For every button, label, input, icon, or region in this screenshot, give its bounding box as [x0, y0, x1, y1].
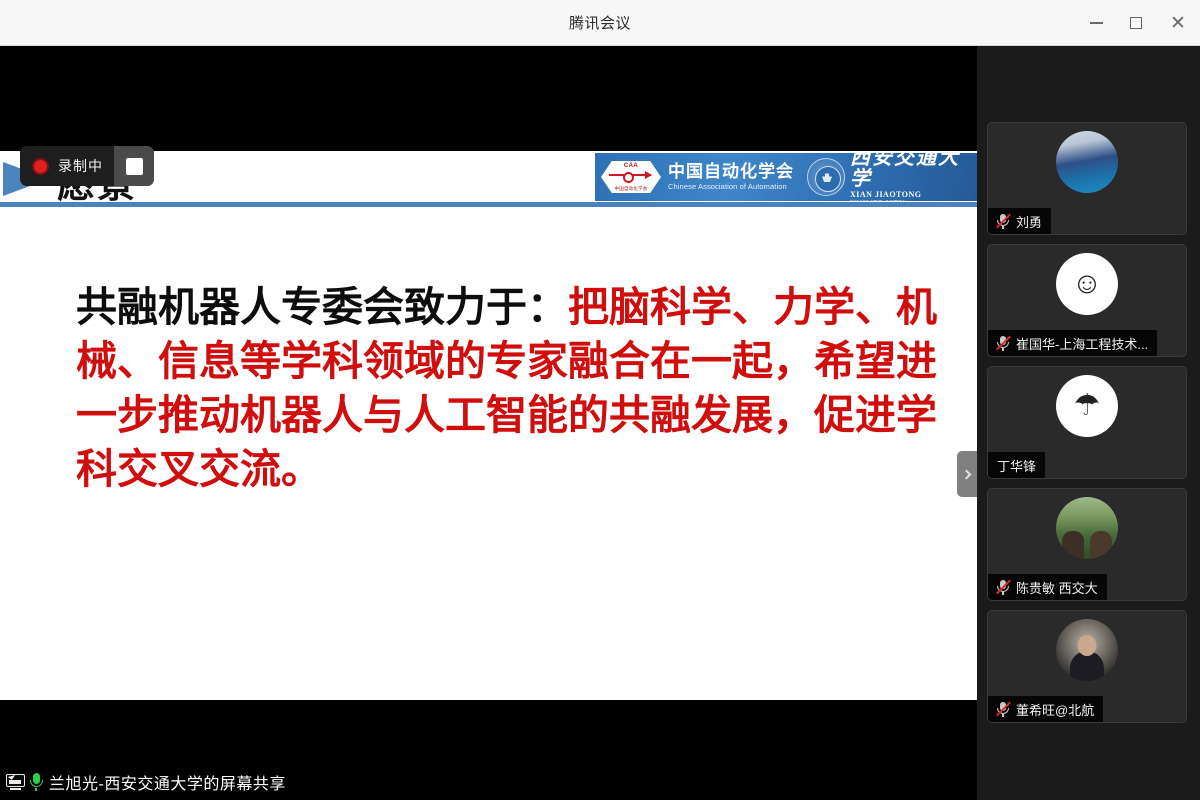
participant-name: 丁华锋 [997, 456, 1036, 475]
chevron-right-icon [961, 469, 971, 479]
caa-mark-bottom: 中国自动化学会 [601, 186, 661, 192]
mic-muted-icon [995, 579, 1011, 595]
participant-namebar: 董希旺@北航 [988, 696, 1103, 722]
mic-muted-icon [995, 335, 1011, 351]
recording-indicator: 录制中 [20, 146, 154, 186]
meeting-window: 腾讯会议 ✕ 愿景 CAA [0, 0, 1200, 800]
recording-label: 录制中 [58, 156, 103, 176]
xjtu-seal-icon [807, 158, 845, 196]
close-icon: ✕ [1170, 14, 1186, 33]
participant-name: 陈贵敏 西交大 [1016, 578, 1098, 597]
participant-tile[interactable]: ☂ 丁华锋 [987, 366, 1187, 479]
avatar [1056, 619, 1118, 681]
collapse-panel-button[interactable] [957, 451, 977, 497]
participant-tile[interactable]: 陈贵敏 西交大 [987, 488, 1187, 601]
presentation-slide: 愿景 CAA 中国自动化学会 中国自动化学会 Chinese Associati… [0, 151, 977, 700]
participant-namebar: 陈贵敏 西交大 [988, 574, 1107, 600]
caa-ring-icon [623, 172, 634, 183]
microphone-active-icon [29, 773, 43, 791]
xjtu-name-en: XIAN JIAOTONG UNIVERSITY [850, 190, 977, 202]
slide-header-rule [0, 202, 977, 207]
participant-tile[interactable]: ☺ 崔国华-上海工程技术... [987, 244, 1187, 357]
participant-name: 刘勇 [1016, 212, 1042, 231]
close-button[interactable]: ✕ [1156, 0, 1200, 46]
avatar-head-shape [1078, 635, 1097, 656]
share-status-text: 兰旭光-西安交通大学的屏幕共享 [49, 770, 286, 794]
window-controls: ✕ [1076, 0, 1200, 46]
mic-muted-icon [995, 213, 1011, 229]
participant-tile[interactable]: 董希旺@北航 [987, 610, 1187, 723]
caa-emblem-icon: CAA 中国自动化学会 [601, 161, 661, 193]
caa-mark-top: CAA [601, 163, 661, 169]
avatar-people-shape [1061, 527, 1113, 559]
caa-logo: CAA 中国自动化学会 中国自动化学会 Chinese Association … [595, 161, 807, 193]
slide-logos: CAA 中国自动化学会 中国自动化学会 Chinese Association … [595, 153, 977, 201]
minimize-icon [1090, 22, 1103, 24]
mic-muted-icon [995, 701, 1011, 717]
avatar: ☂ [1056, 375, 1118, 437]
minimize-button[interactable] [1076, 0, 1116, 46]
shared-screen-area[interactable]: 愿景 CAA 中国自动化学会 中国自动化学会 Chinese Associati… [0, 46, 977, 800]
xjtu-logo: 西安交通大学 XIAN JIAOTONG UNIVERSITY [807, 153, 977, 201]
caa-name-cn: 中国自动化学会 [668, 163, 794, 181]
participant-namebar: 丁华锋 [988, 452, 1045, 478]
participant-name: 崔国华-上海工程技术... [1016, 334, 1148, 353]
caa-name-en: Chinese Association of Automation [668, 182, 794, 191]
avatar [1056, 131, 1118, 193]
slide-paragraph: 共融机器人专委会致力于：把脑科学、力学、机械、信息等学科领域的专家融合在一起，希… [76, 280, 951, 496]
window-title: 腾讯会议 [569, 12, 631, 33]
slide-text-black: 共融机器人专委会致力于： [76, 283, 568, 331]
avatar: ☺ [1056, 253, 1118, 315]
maximize-icon [1130, 17, 1142, 29]
share-status-bar: 兰旭光-西安交通大学的屏幕共享 [0, 764, 977, 800]
maximize-button[interactable] [1116, 0, 1156, 46]
avatar [1056, 497, 1118, 559]
screen-share-icon [6, 774, 25, 790]
doodle-figure-icon: ☺ [1072, 269, 1103, 299]
xjtu-text: 西安交通大学 XIAN JIAOTONG UNIVERSITY [850, 153, 977, 201]
slide-body: 共融机器人专委会致力于：把脑科学、力学、机械、信息等学科领域的专家融合在一起，希… [0, 208, 977, 700]
recording-status: 录制中 [20, 146, 114, 186]
participant-tile[interactable]: 刘勇 [987, 122, 1187, 235]
stop-square-icon [126, 158, 143, 175]
participant-rail[interactable]: 刘勇 ☺ 崔国华-上海工程技术... ☂ 丁华锋 [977, 46, 1200, 800]
caa-text: 中国自动化学会 Chinese Association of Automatio… [668, 163, 794, 191]
record-dot-icon [32, 158, 49, 175]
doodle-umbrella-icon: ☂ [1074, 391, 1101, 421]
title-bar: 腾讯会议 ✕ [0, 0, 1200, 46]
xjtu-name-cn: 西安交通大学 [850, 153, 977, 189]
participant-name: 董希旺@北航 [1016, 700, 1094, 719]
participant-namebar: 崔国华-上海工程技术... [988, 330, 1157, 356]
participant-namebar: 刘勇 [988, 208, 1051, 234]
stop-recording-button[interactable] [114, 146, 154, 186]
